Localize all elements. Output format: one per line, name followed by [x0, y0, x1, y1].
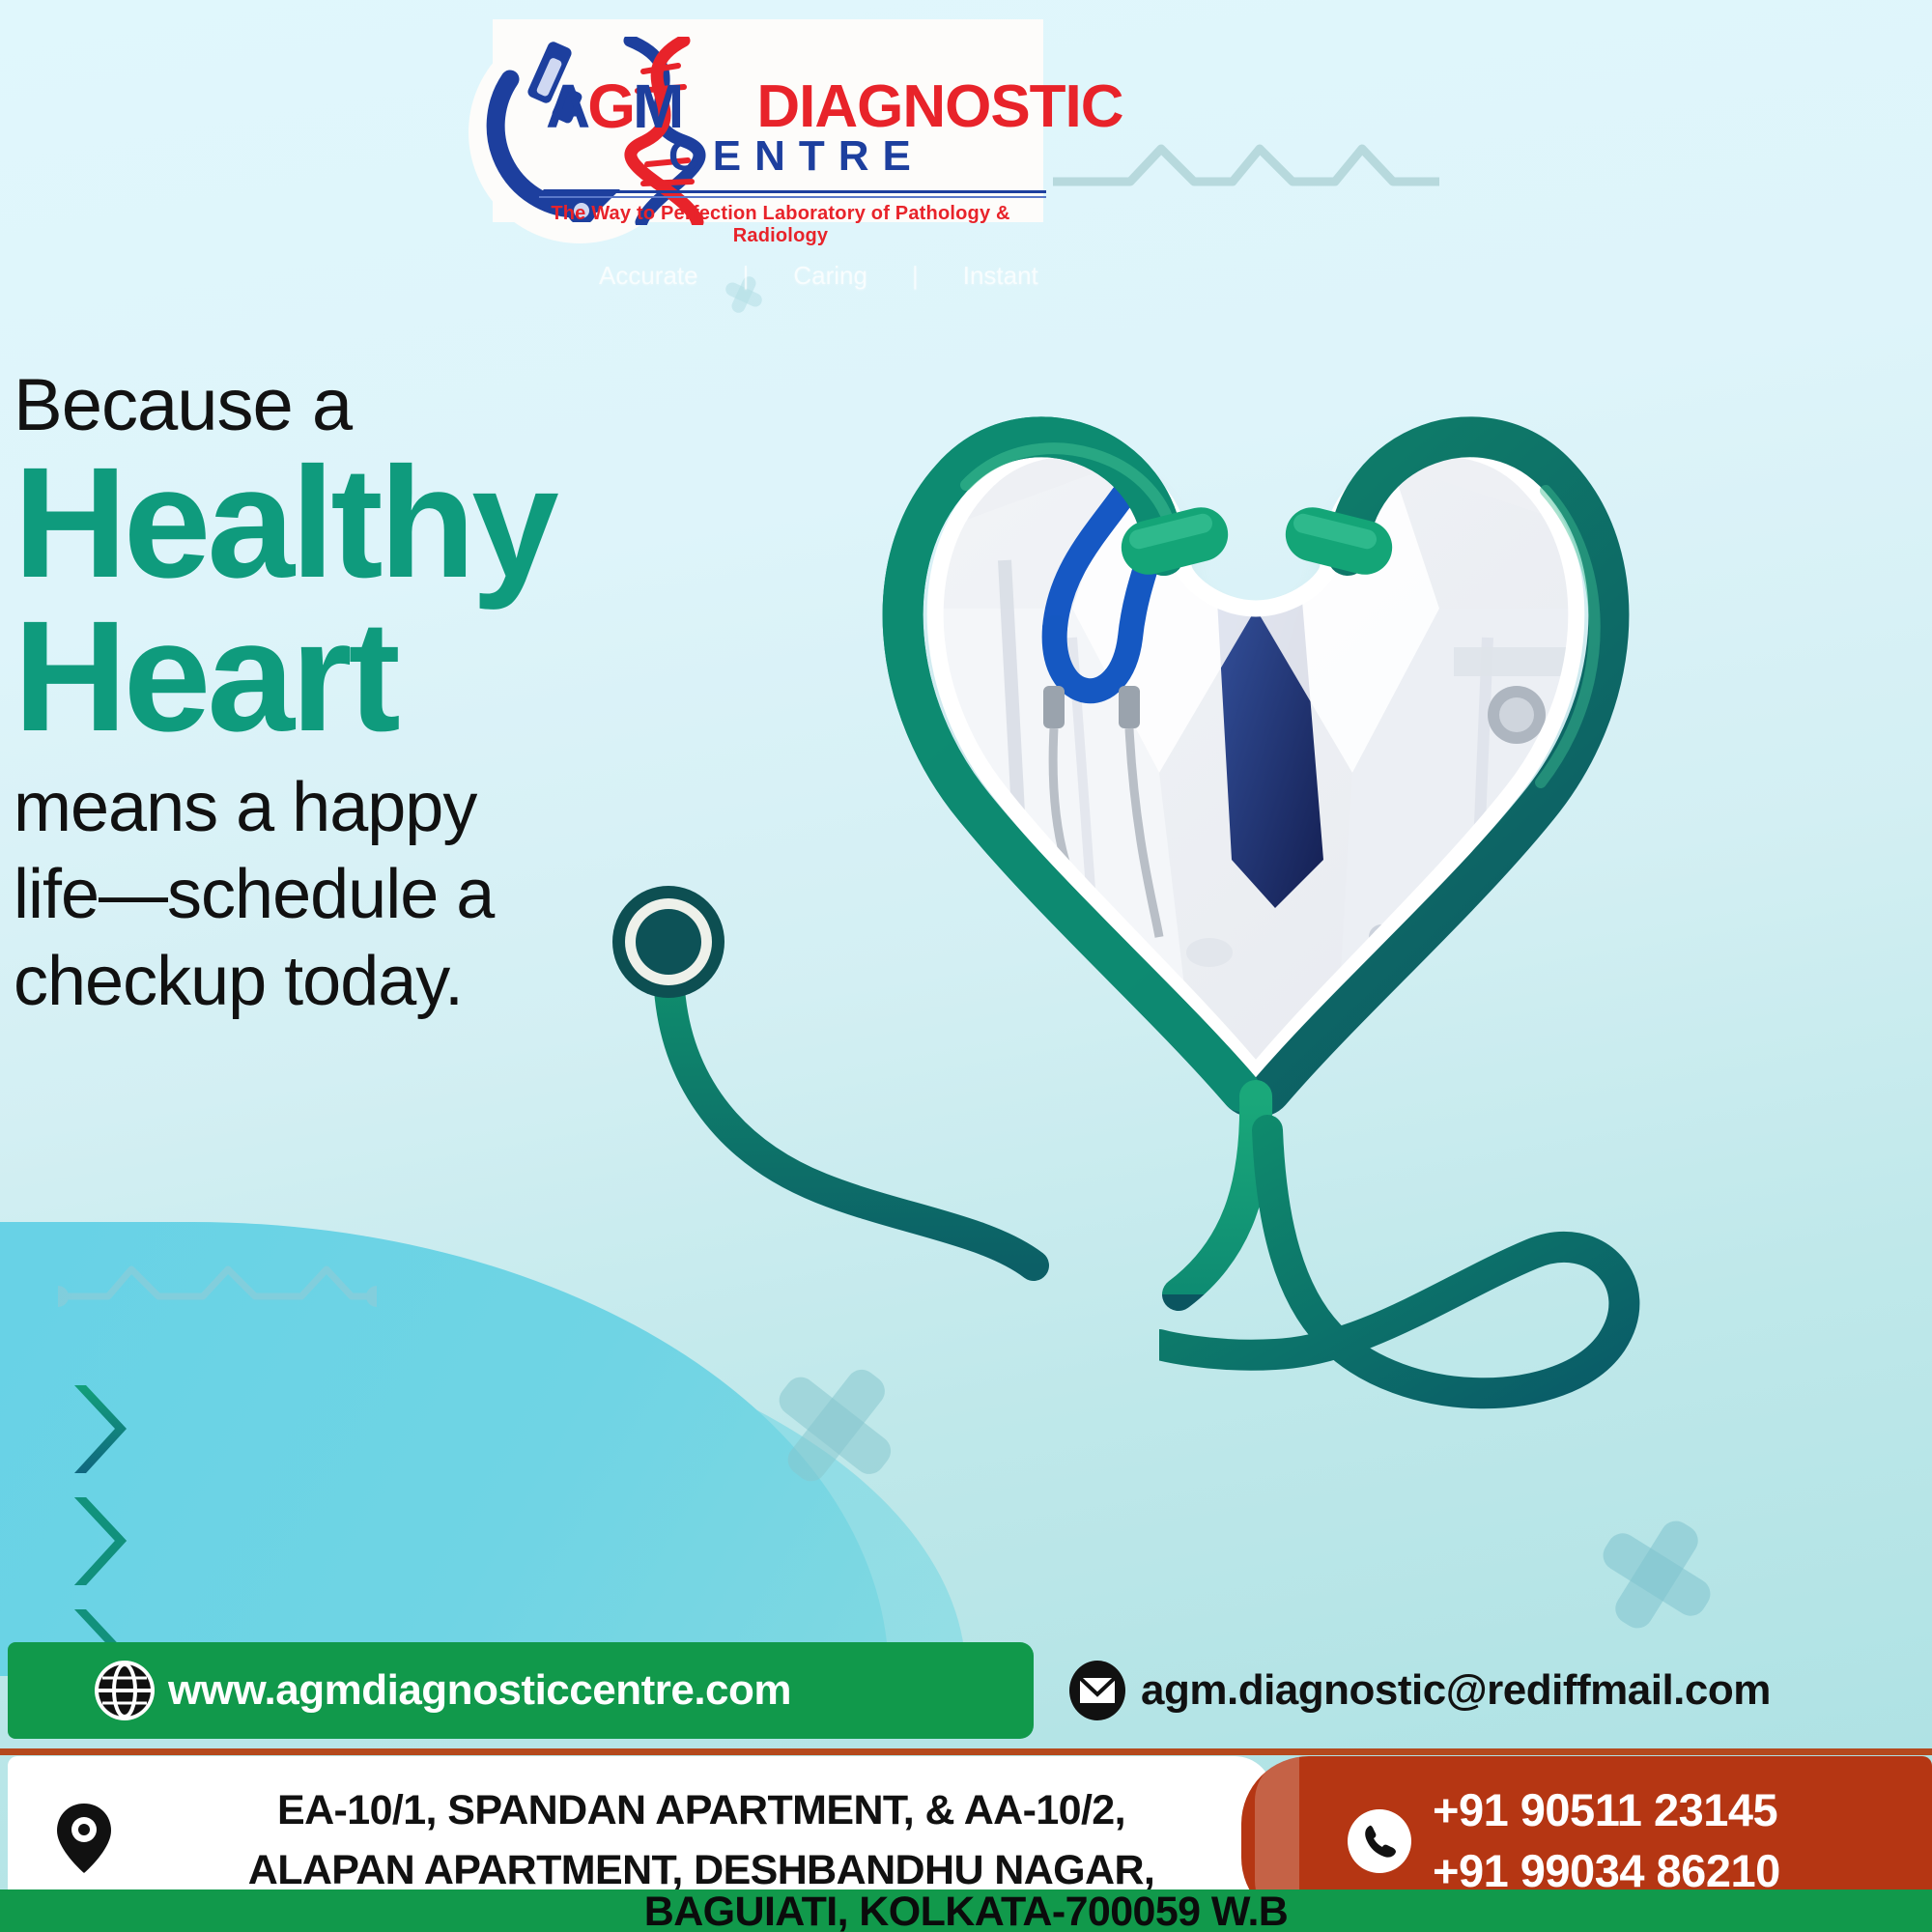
logo-word-diagnostic: DIAGNOSTIC	[756, 77, 1122, 137]
website-bar[interactable]: www.agmdiagnosticcentre.com	[8, 1642, 950, 1739]
logo-word-centre: CENTRE	[668, 135, 924, 178]
footer-orange-divider	[0, 1748, 1932, 1755]
envelope-icon	[1067, 1661, 1127, 1720]
badge-row: Accurate | Caring | Instant	[599, 261, 1179, 291]
badge-separator-1: |	[743, 261, 750, 291]
badge-separator-2: |	[912, 261, 919, 291]
poster-canvas: AGM DIAGNOSTIC CENTRE The Way to Perfect…	[0, 0, 1932, 1932]
phone-text: +91 90511 23145 +91 99034 86210	[1433, 1780, 1780, 1902]
address-line-1: EA-10/1, SPANDAN APARTMENT, & AA-10/2,	[131, 1781, 1271, 1840]
website-text: www.agmdiagnosticcentre.com	[168, 1666, 791, 1715]
logo-brand-agm: AGM	[546, 75, 681, 137]
globe-icon	[95, 1661, 155, 1720]
badge-accurate: Accurate	[599, 261, 698, 291]
logo-brand-row: AGM DIAGNOSTIC	[546, 75, 1123, 137]
badge-instant: Instant	[963, 261, 1038, 291]
logo-divider-primary	[539, 190, 1046, 193]
logo-tagline: The Way to Perfection Laboratory of Path…	[520, 203, 1041, 247]
stethoscope-chestpiece-icon	[612, 886, 724, 998]
badge-caring: Caring	[793, 261, 867, 291]
stethoscope-chestpiece-group	[580, 850, 1256, 1449]
phone-number-1: +91 90511 23145	[1433, 1780, 1780, 1841]
email-row[interactable]: agm.diagnostic@rediffmail.com	[1067, 1642, 1771, 1739]
website-bar-tail	[869, 1642, 1034, 1739]
logo-text-block: AGM DIAGNOSTIC CENTRE The Way to Perfect…	[493, 19, 1048, 227]
phone-icon	[1348, 1809, 1411, 1873]
ecg-line-icon-secondary	[58, 1256, 377, 1319]
email-text: agm.diagnostic@rediffmail.com	[1141, 1666, 1771, 1715]
map-pin-icon	[54, 1802, 114, 1880]
address-text: EA-10/1, SPANDAN APARTMENT, & AA-10/2, A…	[131, 1781, 1271, 1899]
footer: www.agmdiagnosticcentre.com agm.diagnost…	[0, 1633, 1932, 1932]
logo-divider-secondary	[539, 196, 1046, 198]
stethoscope-tube-loop	[1159, 1092, 1835, 1575]
address-line-3: BAGUIATI, KOLKATA-700059 W.B	[0, 1889, 1932, 1932]
